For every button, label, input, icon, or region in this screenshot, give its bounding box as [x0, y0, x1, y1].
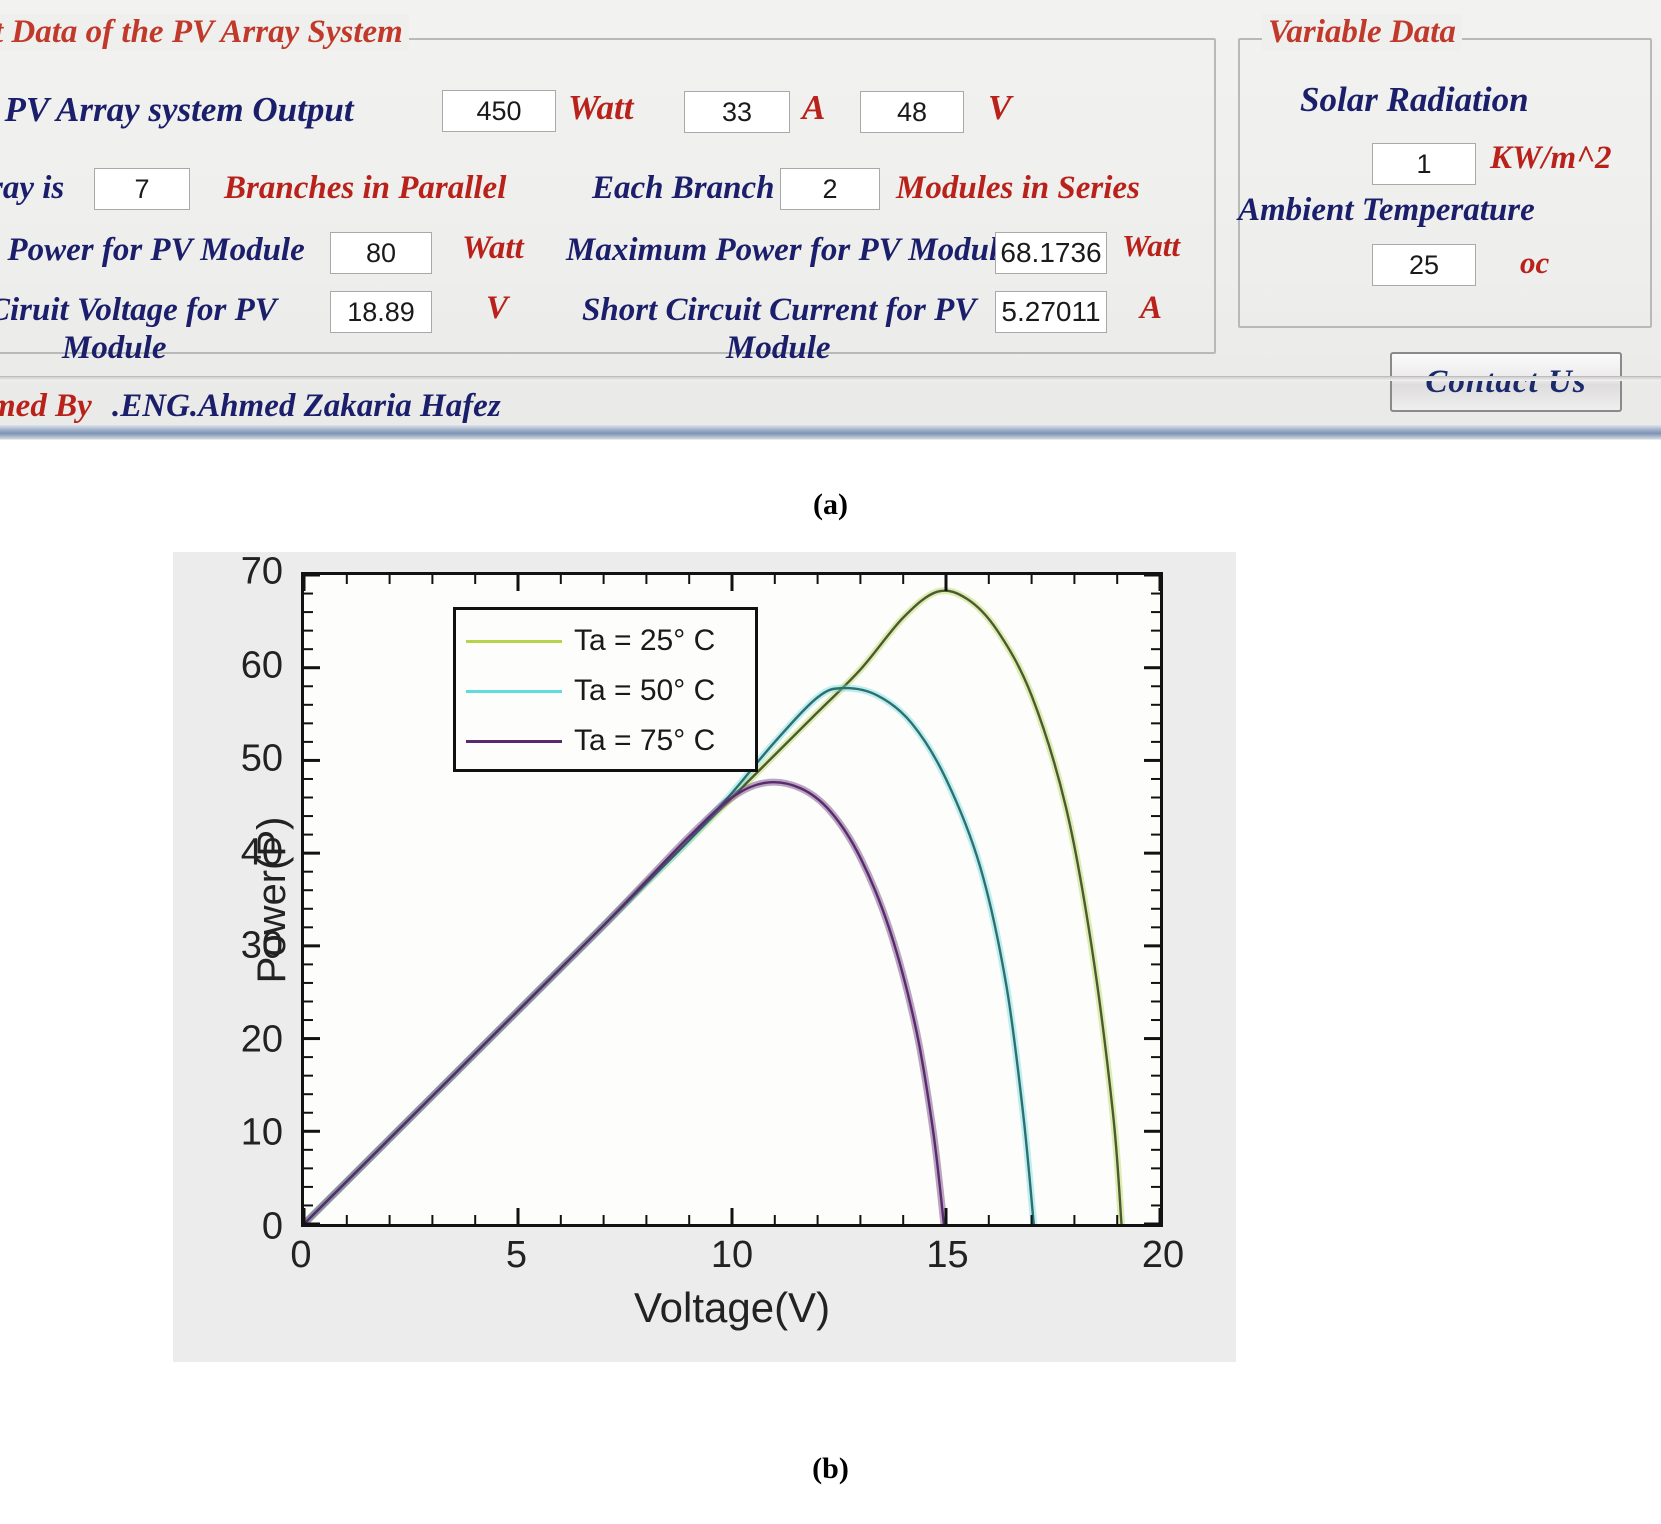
- module-power-value[interactable]: 80: [330, 232, 432, 274]
- each-branch-label: Each Branch: [592, 170, 774, 208]
- contact-us-button[interactable]: Contact Us: [1390, 352, 1622, 412]
- constant-data-group-title: t Data of the PV Array System: [0, 14, 409, 51]
- x-tick-15: 15: [926, 1234, 968, 1277]
- modules-series-value[interactable]: 2: [780, 168, 880, 210]
- legend-swatch-0: [466, 640, 562, 643]
- total-output-unit: Watt: [568, 88, 633, 128]
- branches-parallel-unit: Branches in Parallel: [224, 170, 506, 208]
- window-bottom-edge: [0, 425, 1661, 439]
- legend-label-1: Ta = 50° C: [574, 674, 715, 708]
- x-tick-0: 0: [290, 1234, 311, 1277]
- legend-item-2: Ta = 75° C: [466, 716, 745, 766]
- open-circuit-voltage-label: Ciruit Voltage for PV: [0, 292, 277, 330]
- modules-series-unit: Modules in Series: [896, 170, 1140, 208]
- ambient-temperature-value[interactable]: 25: [1372, 244, 1476, 286]
- x-tick-5: 5: [506, 1234, 527, 1277]
- total-output-value[interactable]: 450: [442, 90, 556, 132]
- total-output-label: l PV Array system Output: [0, 90, 354, 130]
- solar-radiation-unit: KW/m^2: [1490, 140, 1612, 178]
- open-circuit-voltage-unit: V: [486, 290, 508, 328]
- short-circuit-current-unit: A: [1140, 290, 1162, 328]
- pv-array-gui-panel: t Data of the PV Array System Variable D…: [0, 0, 1661, 440]
- max-power-label: Maximum Power for PV Module: [566, 232, 1013, 270]
- short-circuit-current-label-line2: Module: [726, 330, 831, 368]
- array-voltage-unit: V: [988, 88, 1011, 128]
- panel-divider: [0, 376, 1661, 381]
- footer-author: .ENG.Ahmed Zakaria Hafez: [112, 388, 501, 426]
- legend-swatch-2: [466, 740, 562, 743]
- array-is-label: ray is: [0, 170, 64, 208]
- y-tick-70: 70: [241, 551, 297, 594]
- legend-label-0: Ta = 25° C: [574, 624, 715, 658]
- curve-halo-2: [304, 782, 944, 1224]
- legend-item-0: Ta = 25° C: [466, 616, 745, 666]
- module-power-label: t Power for PV Module: [0, 232, 305, 270]
- x-axis-label: Voltage(V): [301, 1284, 1163, 1332]
- y-tick-10: 10: [241, 1112, 297, 1155]
- open-circuit-voltage-value[interactable]: 18.89: [330, 291, 432, 333]
- solar-radiation-value[interactable]: 1: [1372, 143, 1476, 185]
- pv-power-voltage-chart: Ta = 25° C Ta = 50° C Ta = 75° C 0102030…: [173, 552, 1236, 1362]
- short-circuit-current-label: Short Circuit Current for PV: [582, 292, 976, 330]
- x-tick-10: 10: [711, 1234, 753, 1277]
- ambient-temperature-unit: oc: [1520, 245, 1549, 281]
- legend-label-2: Ta = 75° C: [574, 724, 715, 758]
- branches-parallel-value[interactable]: 7: [94, 168, 190, 210]
- y-tick-20: 20: [241, 1018, 297, 1061]
- caption-b: (b): [0, 1452, 1661, 1486]
- curve-2: [304, 782, 944, 1224]
- y-axis-label: Power(P): [250, 816, 295, 983]
- variable-data-group-title: Variable Data: [1262, 14, 1462, 51]
- y-tick-60: 60: [241, 644, 297, 687]
- max-power-unit: Watt: [1122, 228, 1180, 264]
- plot-area-container: Ta = 25° C Ta = 50° C Ta = 75° C 0102030…: [301, 572, 1163, 1227]
- open-circuit-voltage-label-line2: Module: [62, 330, 167, 368]
- x-tick-20: 20: [1142, 1234, 1184, 1277]
- max-power-value[interactable]: 68.1736: [995, 232, 1107, 274]
- legend-item-1: Ta = 50° C: [466, 666, 745, 716]
- solar-radiation-label: Solar Radiation: [1300, 80, 1529, 120]
- y-tick-50: 50: [241, 738, 297, 781]
- array-current-value[interactable]: 33: [684, 91, 790, 133]
- array-voltage-value[interactable]: 48: [860, 91, 964, 133]
- caption-a: (a): [0, 488, 1661, 522]
- array-current-unit: A: [802, 88, 825, 128]
- short-circuit-current-value[interactable]: 5.27011: [995, 291, 1107, 333]
- ambient-temperature-label: Ambient Temperature: [1238, 192, 1535, 230]
- legend-swatch-1: [466, 690, 562, 693]
- chart-legend: Ta = 25° C Ta = 50° C Ta = 75° C: [453, 607, 758, 772]
- footer-prefix: med By: [0, 388, 92, 426]
- module-power-unit: Watt: [462, 230, 524, 268]
